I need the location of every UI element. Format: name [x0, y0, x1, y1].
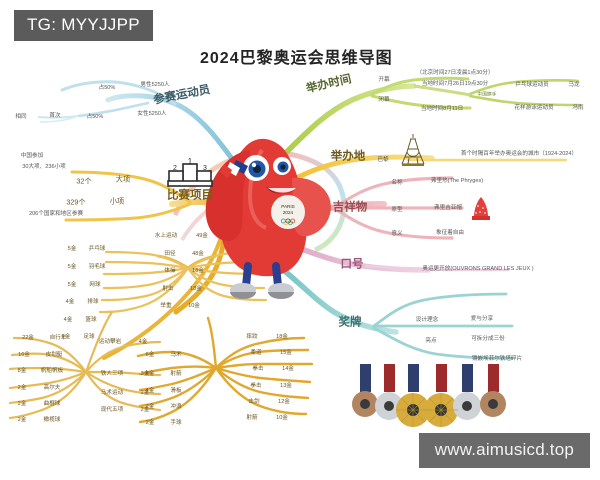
olympic-medals-photo	[348, 362, 538, 434]
eiffel-tower-icon	[396, 132, 430, 168]
mindmap-canvas: PARIS 2024 1 2 3	[0, 0, 600, 480]
page-title: 2024巴黎奥运会思维导图	[200, 44, 393, 68]
podium-rank-2: 2	[173, 165, 177, 172]
podium-icon: 1 2 3	[166, 158, 214, 188]
podium-rank-3: 3	[203, 165, 207, 172]
svg-text:PARIS: PARIS	[281, 204, 294, 209]
tg-watermark-badge: TG: MYYJJPP	[14, 10, 153, 41]
svg-text:2024: 2024	[283, 210, 294, 215]
podium-rank-1: 1	[188, 158, 193, 166]
phrygian-cap-icon	[468, 194, 494, 224]
site-watermark-badge: www.aimusicd.top	[419, 433, 590, 468]
